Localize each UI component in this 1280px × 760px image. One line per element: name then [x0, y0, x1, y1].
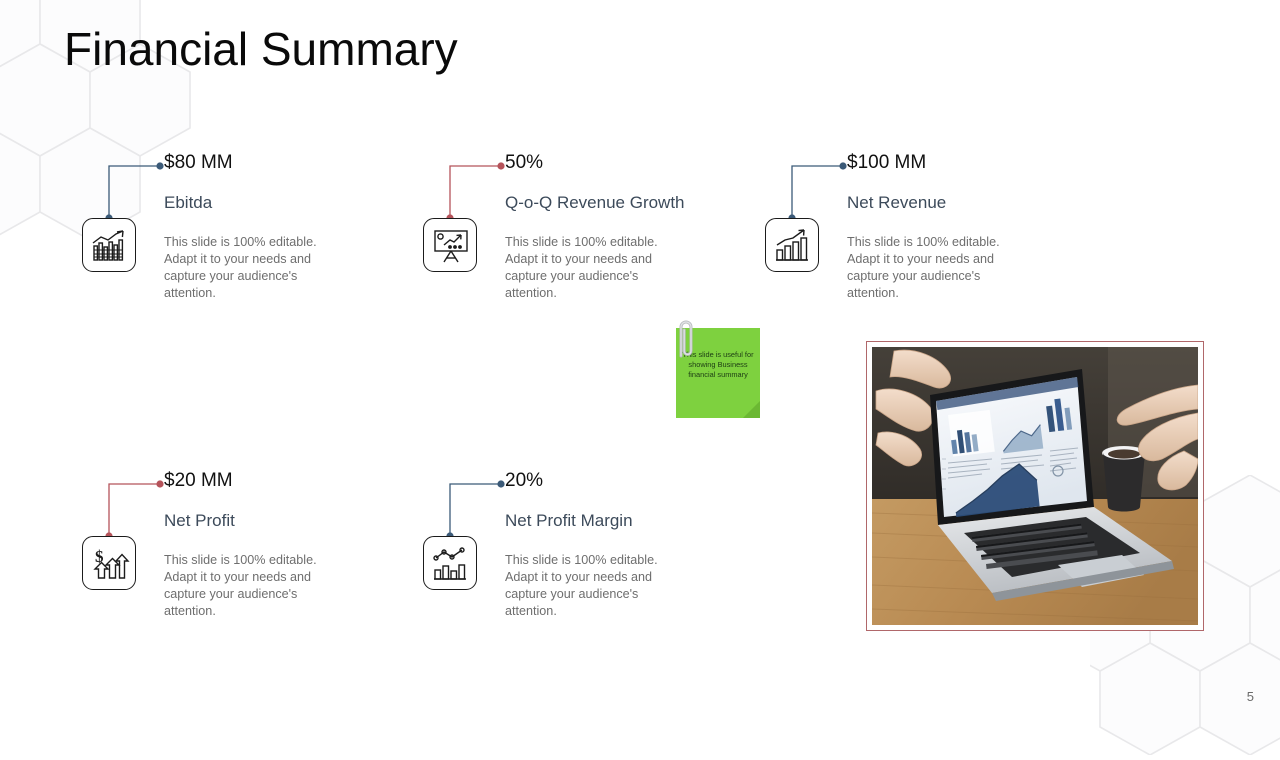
metric-label: Q-o-Q Revenue Growth — [505, 193, 685, 213]
metric-label: Net Profit — [164, 511, 235, 531]
metric-icon-box — [765, 218, 819, 272]
dollar-arrows-up-icon: $ — [90, 544, 130, 584]
metric-description: This slide is 100% editable. Adapt it to… — [164, 552, 327, 620]
metric-icon-box — [423, 218, 477, 272]
page-title: Financial Summary — [64, 20, 458, 78]
metric-label: Net Revenue — [847, 193, 946, 213]
metric-description: This slide is 100% editable. Adapt it to… — [847, 234, 1019, 302]
presentation-board-icon — [431, 226, 471, 266]
bar-chart-arrow-icon — [90, 226, 130, 266]
paperclip-icon — [672, 318, 698, 360]
growth-bars-arrow-icon — [773, 226, 813, 266]
metric-icon-box — [82, 218, 136, 272]
photo-frame — [866, 341, 1204, 631]
sticky-note-fold — [743, 401, 760, 418]
metric-value: 20% — [505, 470, 543, 492]
metric-value: $100 MM — [847, 152, 926, 174]
metric-icon-box: $ — [82, 536, 136, 590]
metric-description: This slide is 100% editable. Adapt it to… — [505, 552, 668, 620]
metric-description: This slide is 100% editable. Adapt it to… — [505, 234, 668, 302]
metric-label: Ebitda — [164, 193, 212, 213]
metric-value: $80 MM — [164, 152, 233, 174]
metric-description: This slide is 100% editable. Adapt it to… — [164, 234, 327, 302]
metric-icon-box — [423, 536, 477, 590]
laptop-dashboard-photo — [872, 347, 1198, 625]
page-number: 5 — [1247, 689, 1254, 704]
line-bar-chart-icon — [431, 544, 471, 584]
metric-value: $20 MM — [164, 470, 233, 492]
metric-label: Net Profit Margin — [505, 511, 633, 531]
metric-value: 50% — [505, 152, 543, 174]
